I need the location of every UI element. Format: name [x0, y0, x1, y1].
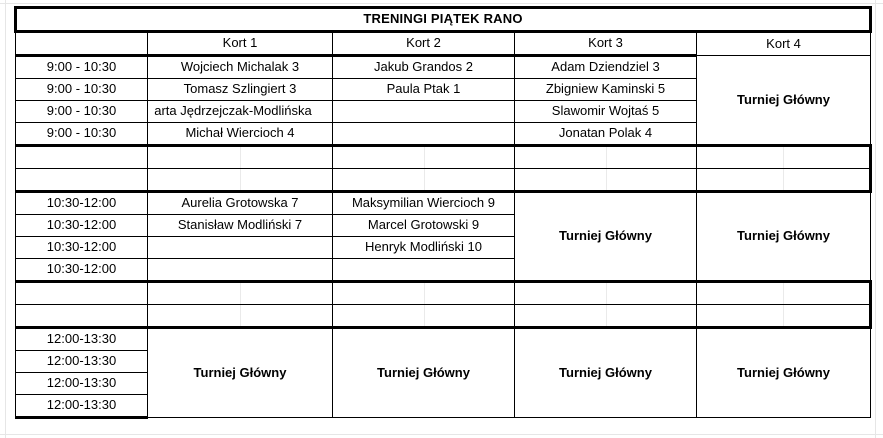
- header-row: Kort 1 Kort 2 Kort 3 Kort 4: [16, 32, 871, 56]
- tournament-cell-kort4: Turniej Główny: [697, 56, 871, 146]
- header-kort-4: Kort 4: [697, 32, 871, 56]
- spacer-cell-kort3: [515, 282, 697, 305]
- time-slot-cell: 9:00 - 10:30: [16, 79, 148, 101]
- time-slot-cell: 12:00-13:30: [16, 328, 148, 351]
- header-blank-corner: [16, 32, 148, 56]
- player-cell-kort2: Henryk Modliński 10: [333, 237, 515, 259]
- player-cell-kort1: Aurelia Grotowska 7: [148, 192, 333, 215]
- spacer-row: [16, 282, 871, 305]
- spacer-time-cell: [16, 282, 148, 305]
- spacer-cell-kort1: [148, 169, 333, 192]
- player-cell-kort1: Michał Wiercioch 4: [148, 123, 333, 146]
- time-slot-cell: 12:00-13:30: [16, 373, 148, 395]
- player-cell-kort1: arta Jędrzejczak-Modlińska: [148, 101, 333, 123]
- player-cell-kort2: [333, 123, 515, 146]
- time-slot-cell: 10:30-12:00: [16, 259, 148, 282]
- spacer-time-cell: [16, 305, 148, 328]
- spacer-row: [16, 305, 871, 328]
- spacer-cell-kort2: [333, 169, 515, 192]
- player-cell-kort3: Zbigniew Kaminski 5: [515, 79, 697, 101]
- player-cell-kort3: Adam Dziendziel 3: [515, 56, 697, 79]
- spacer-row: [16, 146, 871, 169]
- header-kort-3: Kort 3: [515, 32, 697, 56]
- header-kort-1: Kort 1: [148, 32, 333, 56]
- tournament-cell-kort3: Turniej Główny: [515, 328, 697, 418]
- player-cell-kort1: Tomasz Szlingiert 3: [148, 79, 333, 101]
- time-slot-cell: 9:00 - 10:30: [16, 101, 148, 123]
- player-cell-kort2: [333, 101, 515, 123]
- time-slot-cell: 9:00 - 10:30: [16, 56, 148, 79]
- spacer-time-cell: [16, 169, 148, 192]
- time-slot-cell: 9:00 - 10:30: [16, 123, 148, 146]
- spacer-cell-kort2: [333, 305, 515, 328]
- time-slot-cell: 10:30-12:00: [16, 192, 148, 215]
- spacer-row: [16, 169, 871, 192]
- tournament-cell-kort4: Turniej Główny: [697, 328, 871, 418]
- tournament-cell-kort4: Turniej Główny: [697, 192, 871, 282]
- schedule-table-container: TRENINGI PIĄTEK RANO Kort 1 Kort 2 Kort …: [14, 6, 869, 419]
- spacer-time-cell: [16, 146, 148, 169]
- time-slot-cell: 10:30-12:00: [16, 215, 148, 237]
- spacer-cell-kort1: [148, 305, 333, 328]
- spacer-cell-kort4: [697, 146, 871, 169]
- spacer-cell-kort4: [697, 305, 871, 328]
- training-schedule-table: TRENINGI PIĄTEK RANO Kort 1 Kort 2 Kort …: [14, 6, 872, 419]
- spacer-cell-kort2: [333, 146, 515, 169]
- tournament-cell-kort3: Turniej Główny: [515, 192, 697, 282]
- player-cell-kort1: [148, 237, 333, 259]
- spacer-cell-kort4: [697, 169, 871, 192]
- player-cell-kort2: Maksymilian Wiercioch 9: [333, 192, 515, 215]
- player-cell-kort2: [333, 259, 515, 282]
- player-cell-kort2: Paula Ptak 1: [333, 79, 515, 101]
- spacer-cell-kort1: [148, 146, 333, 169]
- tournament-cell-kort2: Turniej Główny: [333, 328, 515, 418]
- player-cell-kort3: Slawomir Wojtaś 5: [515, 101, 697, 123]
- spacer-cell-kort3: [515, 305, 697, 328]
- player-cell-kort2: Jakub Grandos 2: [333, 56, 515, 79]
- spacer-cell-kort3: [515, 169, 697, 192]
- player-cell-kort2: Marcel Grotowski 9: [333, 215, 515, 237]
- player-cell-kort1: Wojciech Michalak 3: [148, 56, 333, 79]
- time-slot-cell: 10:30-12:00: [16, 237, 148, 259]
- table-row: 9:00 - 10:30 Wojciech Michalak 3 Jakub G…: [16, 56, 871, 79]
- time-slot-cell: 12:00-13:30: [16, 351, 148, 373]
- spacer-cell-kort3: [515, 146, 697, 169]
- page-title: TRENINGI PIĄTEK RANO: [16, 8, 871, 32]
- player-cell-kort3: Jonatan Polak 4: [515, 123, 697, 146]
- player-cell-kort1: Stanisław Modliński 7: [148, 215, 333, 237]
- tournament-cell-kort1: Turniej Główny: [148, 328, 333, 418]
- spacer-cell-kort1: [148, 282, 333, 305]
- spacer-cell-kort2: [333, 282, 515, 305]
- table-row: 12:00-13:30 Turniej Główny Turniej Główn…: [16, 328, 871, 351]
- header-kort-2: Kort 2: [333, 32, 515, 56]
- table-row: 10:30-12:00 Aurelia Grotowska 7 Maksymil…: [16, 192, 871, 215]
- player-cell-kort1: [148, 259, 333, 282]
- spacer-cell-kort4: [697, 282, 871, 305]
- time-slot-cell: 12:00-13:30: [16, 395, 148, 418]
- title-row: TRENINGI PIĄTEK RANO: [16, 8, 871, 32]
- player-name-overflow: arta Jędrzejczak-Modlińska: [148, 104, 326, 118]
